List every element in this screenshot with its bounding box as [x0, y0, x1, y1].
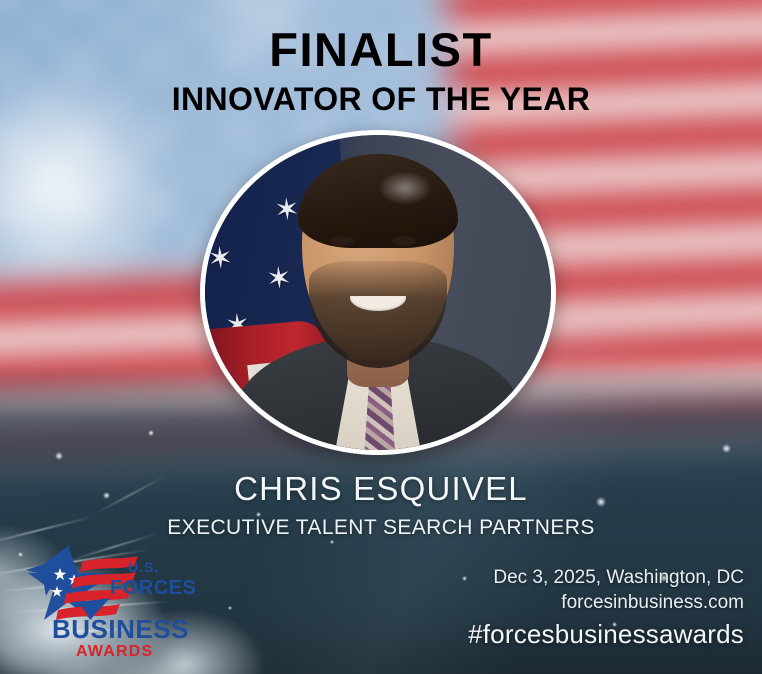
forces-in-business-awards-logo: U.S. FORCES in BUSINESS AWARDS: [24, 540, 204, 662]
logo-text-in: in: [82, 601, 92, 613]
event-website[interactable]: forcesinbusiness.com: [468, 590, 744, 615]
portrait-eye-left: [330, 236, 354, 246]
event-hashtag: #forcesbusinessawards: [468, 618, 744, 652]
award-finalist-poster: FINALIST INNOVATOR OF THE YEAR ✶ ✶ ✶ ✶ ✶…: [0, 0, 762, 674]
honoree-name-group: CHRIS ESQUIVEL EXECUTIVE TALENT SEARCH P…: [0, 471, 762, 539]
logo-text-business: BUSINESS: [52, 614, 189, 644]
headline-group: FINALIST INNOVATOR OF THE YEAR: [0, 26, 762, 117]
logo-artwork: U.S. FORCES in BUSINESS AWARDS: [24, 540, 204, 662]
portrait-image: ✶ ✶ ✶ ✶ ✶ ✶ ✶: [205, 135, 551, 450]
portrait-eye-right: [392, 236, 416, 246]
logo-text-awards: AWARDS: [76, 643, 153, 660]
award-headline: FINALIST: [0, 26, 762, 74]
logo-text-forces: FORCES: [110, 577, 196, 599]
award-category-subheadline: INNOVATOR OF THE YEAR: [0, 83, 762, 117]
event-date-location: Dec 3, 2025, Washington, DC: [468, 565, 744, 590]
event-details-group: Dec 3, 2025, Washington, DC forcesinbusi…: [468, 565, 744, 652]
honoree-name: CHRIS ESQUIVEL: [0, 471, 762, 507]
logo-text-us: U.S.: [128, 559, 159, 575]
honoree-organization: EXECUTIVE TALENT SEARCH PARTNERS: [0, 516, 762, 539]
honoree-portrait: ✶ ✶ ✶ ✶ ✶ ✶ ✶: [200, 130, 556, 455]
